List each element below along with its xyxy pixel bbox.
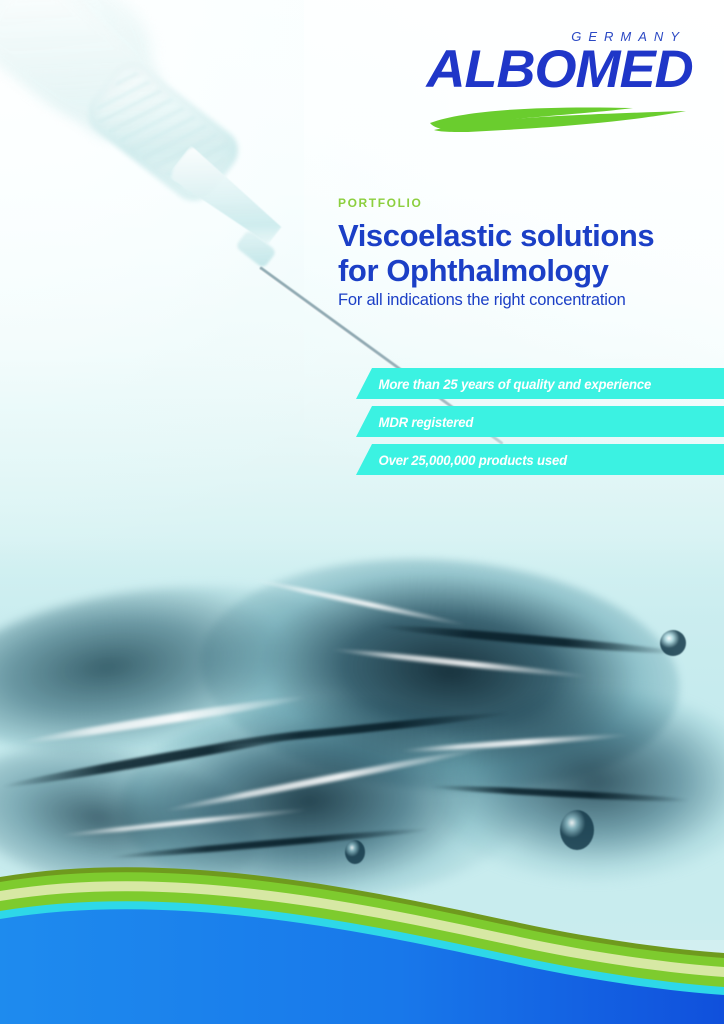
eyebrow-label: PORTFOLIO (338, 196, 698, 210)
page-subtitle: For all indications the right concentrat… (338, 291, 698, 310)
claim-label: Over 25,000,000 products used (356, 452, 567, 468)
claim-banner: More than 25 years of quality and experi… (356, 368, 724, 399)
footer-wave (0, 849, 724, 1024)
claim-label: MDR registered (356, 414, 473, 430)
page-title-line-2: for Ophthalmology (338, 254, 698, 289)
logo-wordmark: ALBOMED (423, 45, 692, 95)
brochure-cover-page: GERMANY ALBOMED PORTFOLIO Viscoelastic s… (0, 0, 724, 1024)
page-title-line-1: Viscoelastic solutions (338, 219, 698, 254)
leaf-swoosh-icon (428, 106, 690, 132)
claims-list: More than 25 years of quality and experi… (356, 368, 724, 482)
water-droplet (660, 630, 686, 656)
claim-banner: MDR registered (356, 406, 724, 437)
albomed-logo[interactable]: GERMANY ALBOMED (426, 30, 690, 122)
syringe-image (0, 0, 390, 370)
claim-banner: Over 25,000,000 products used (356, 444, 724, 475)
claim-label: More than 25 years of quality and experi… (356, 376, 651, 392)
page-title: Viscoelastic solutions for Ophthalmology (338, 219, 698, 288)
water-droplet (560, 810, 594, 850)
headline-block: PORTFOLIO Viscoelastic solutions for Oph… (338, 196, 698, 310)
